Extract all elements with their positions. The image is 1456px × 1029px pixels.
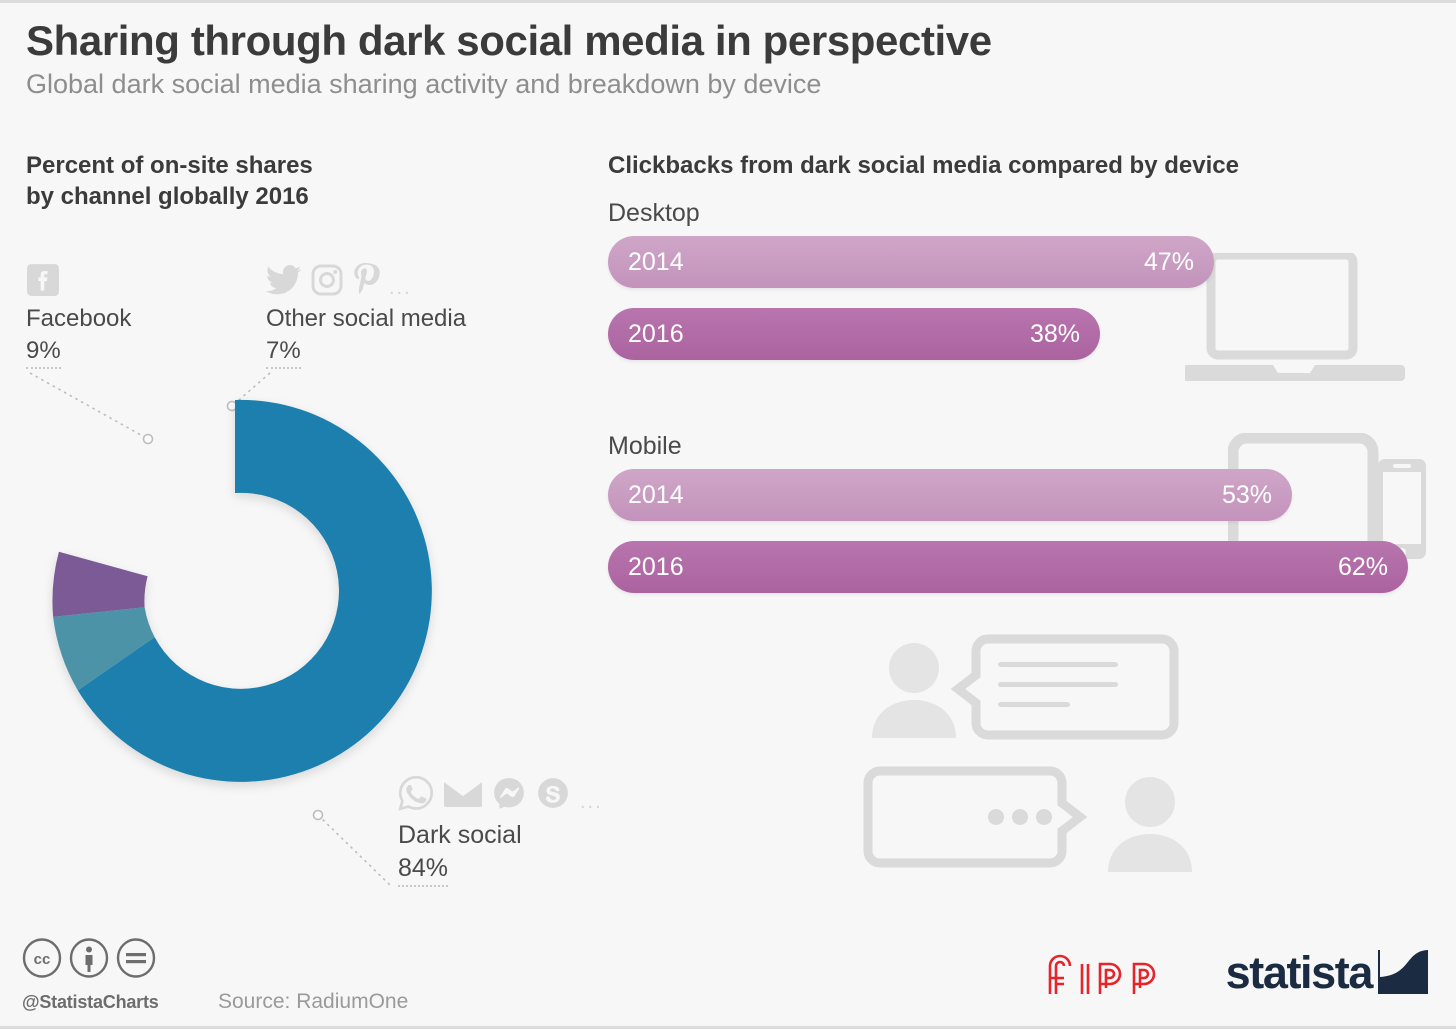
other-social-more-dots: ...: [389, 283, 412, 299]
statista-mark-icon: [1378, 948, 1428, 996]
callout-value-dark-social: 84%: [398, 852, 448, 888]
bar-value-label: 38%: [1030, 320, 1080, 349]
dark-social-icon-group: ...: [398, 773, 603, 813]
speech-bubble-icon: [958, 639, 1174, 735]
bar-value-label: 47%: [1144, 248, 1194, 277]
pie-chart-panel: Percent of on-site shares by channel glo…: [26, 151, 586, 212]
statista-logo: statista: [1226, 948, 1428, 996]
device-label-mobile: Mobile: [608, 431, 1438, 461]
bar-mobile-2016[interactable]: 2016 62%: [608, 541, 1408, 593]
pie-heading-line2: by channel globally 2016: [26, 182, 586, 213]
footer-logos: statista: [1044, 948, 1428, 996]
donut-chart: [22, 378, 482, 818]
device-group-mobile: Mobile 2014 53% 2016 62%: [608, 431, 1438, 593]
bar-year-label: 2016: [628, 553, 684, 582]
instagram-icon: [311, 264, 343, 296]
device-label-desktop: Desktop: [608, 198, 1438, 228]
statista-wordmark: statista: [1226, 950, 1372, 995]
bar-chart-panel: Clickbacks from dark social media compar…: [608, 151, 1438, 181]
whatsapp-icon: [398, 775, 434, 811]
attribution-icon: [69, 938, 109, 978]
header: Sharing through dark social media in per…: [26, 17, 1426, 102]
pie-heading-line1: Percent of on-site shares: [26, 151, 586, 182]
pie-legend: Facebook 9% ...: [26, 261, 586, 391]
typing-bubble-icon: [868, 771, 1080, 863]
bar-value-label: 53%: [1222, 481, 1272, 510]
donut-slice-other-social: [52, 552, 147, 617]
skype-icon: [536, 776, 570, 810]
facebook-icon-group: [26, 261, 131, 299]
legend-item-facebook: Facebook 9%: [26, 261, 131, 369]
pinterest-icon: [352, 263, 380, 297]
facebook-icon: [26, 263, 60, 297]
creative-commons-badges: cc: [22, 938, 156, 978]
svg-text:cc: cc: [34, 951, 51, 968]
page-subtitle: Global dark social media sharing activit…: [26, 68, 1426, 102]
fipp-logo: [1044, 948, 1184, 996]
legend-value-other-social: 7%: [266, 335, 301, 370]
legend-item-other-social: ... Other social media 7%: [266, 261, 466, 369]
twitter-icon: [266, 264, 302, 296]
source-label: Source: RadiumOne: [218, 990, 408, 1014]
bar-chart-heading: Clickbacks from dark social media compar…: [608, 151, 1438, 181]
statista-handle: @StatistaCharts: [22, 992, 159, 1013]
bar-mobile-2014[interactable]: 2014 53%: [608, 469, 1292, 521]
other-social-icon-group: ...: [266, 261, 466, 299]
infographic-page: Sharing through dark social media in per…: [0, 0, 1456, 1029]
callout-dark-social: ... Dark social 84%: [398, 773, 603, 887]
creative-commons-icon: cc: [22, 938, 62, 978]
bar-desktop-2016[interactable]: 2016 38%: [608, 308, 1100, 360]
pie-chart-heading: Percent of on-site shares by channel glo…: [26, 151, 586, 212]
messenger-icon: [492, 776, 526, 810]
person-icon: [872, 643, 956, 738]
bar-year-label: 2016: [628, 320, 684, 349]
chat-conversation-decoration: [862, 631, 1302, 911]
device-group-desktop: Desktop 2014 47% 2016 38%: [608, 198, 1438, 360]
legend-value-facebook: 9%: [26, 335, 61, 370]
page-title: Sharing through dark social media in per…: [26, 17, 1426, 64]
legend-label-other-social: Other social media: [266, 303, 466, 335]
bar-value-label: 62%: [1338, 553, 1388, 582]
person-icon: [1108, 777, 1192, 872]
bar-desktop-2014[interactable]: 2014 47%: [608, 236, 1214, 288]
email-icon: [444, 778, 482, 808]
footer: cc @StatistaCharts Source: RadiumOne: [0, 922, 1456, 1026]
bar-year-label: 2014: [628, 248, 684, 277]
callout-label-dark-social: Dark social: [398, 819, 603, 852]
dark-social-more-dots: ...: [580, 797, 603, 813]
bar-year-label: 2014: [628, 481, 684, 510]
legend-label-facebook: Facebook: [26, 303, 131, 335]
no-derivatives-icon: [116, 938, 156, 978]
